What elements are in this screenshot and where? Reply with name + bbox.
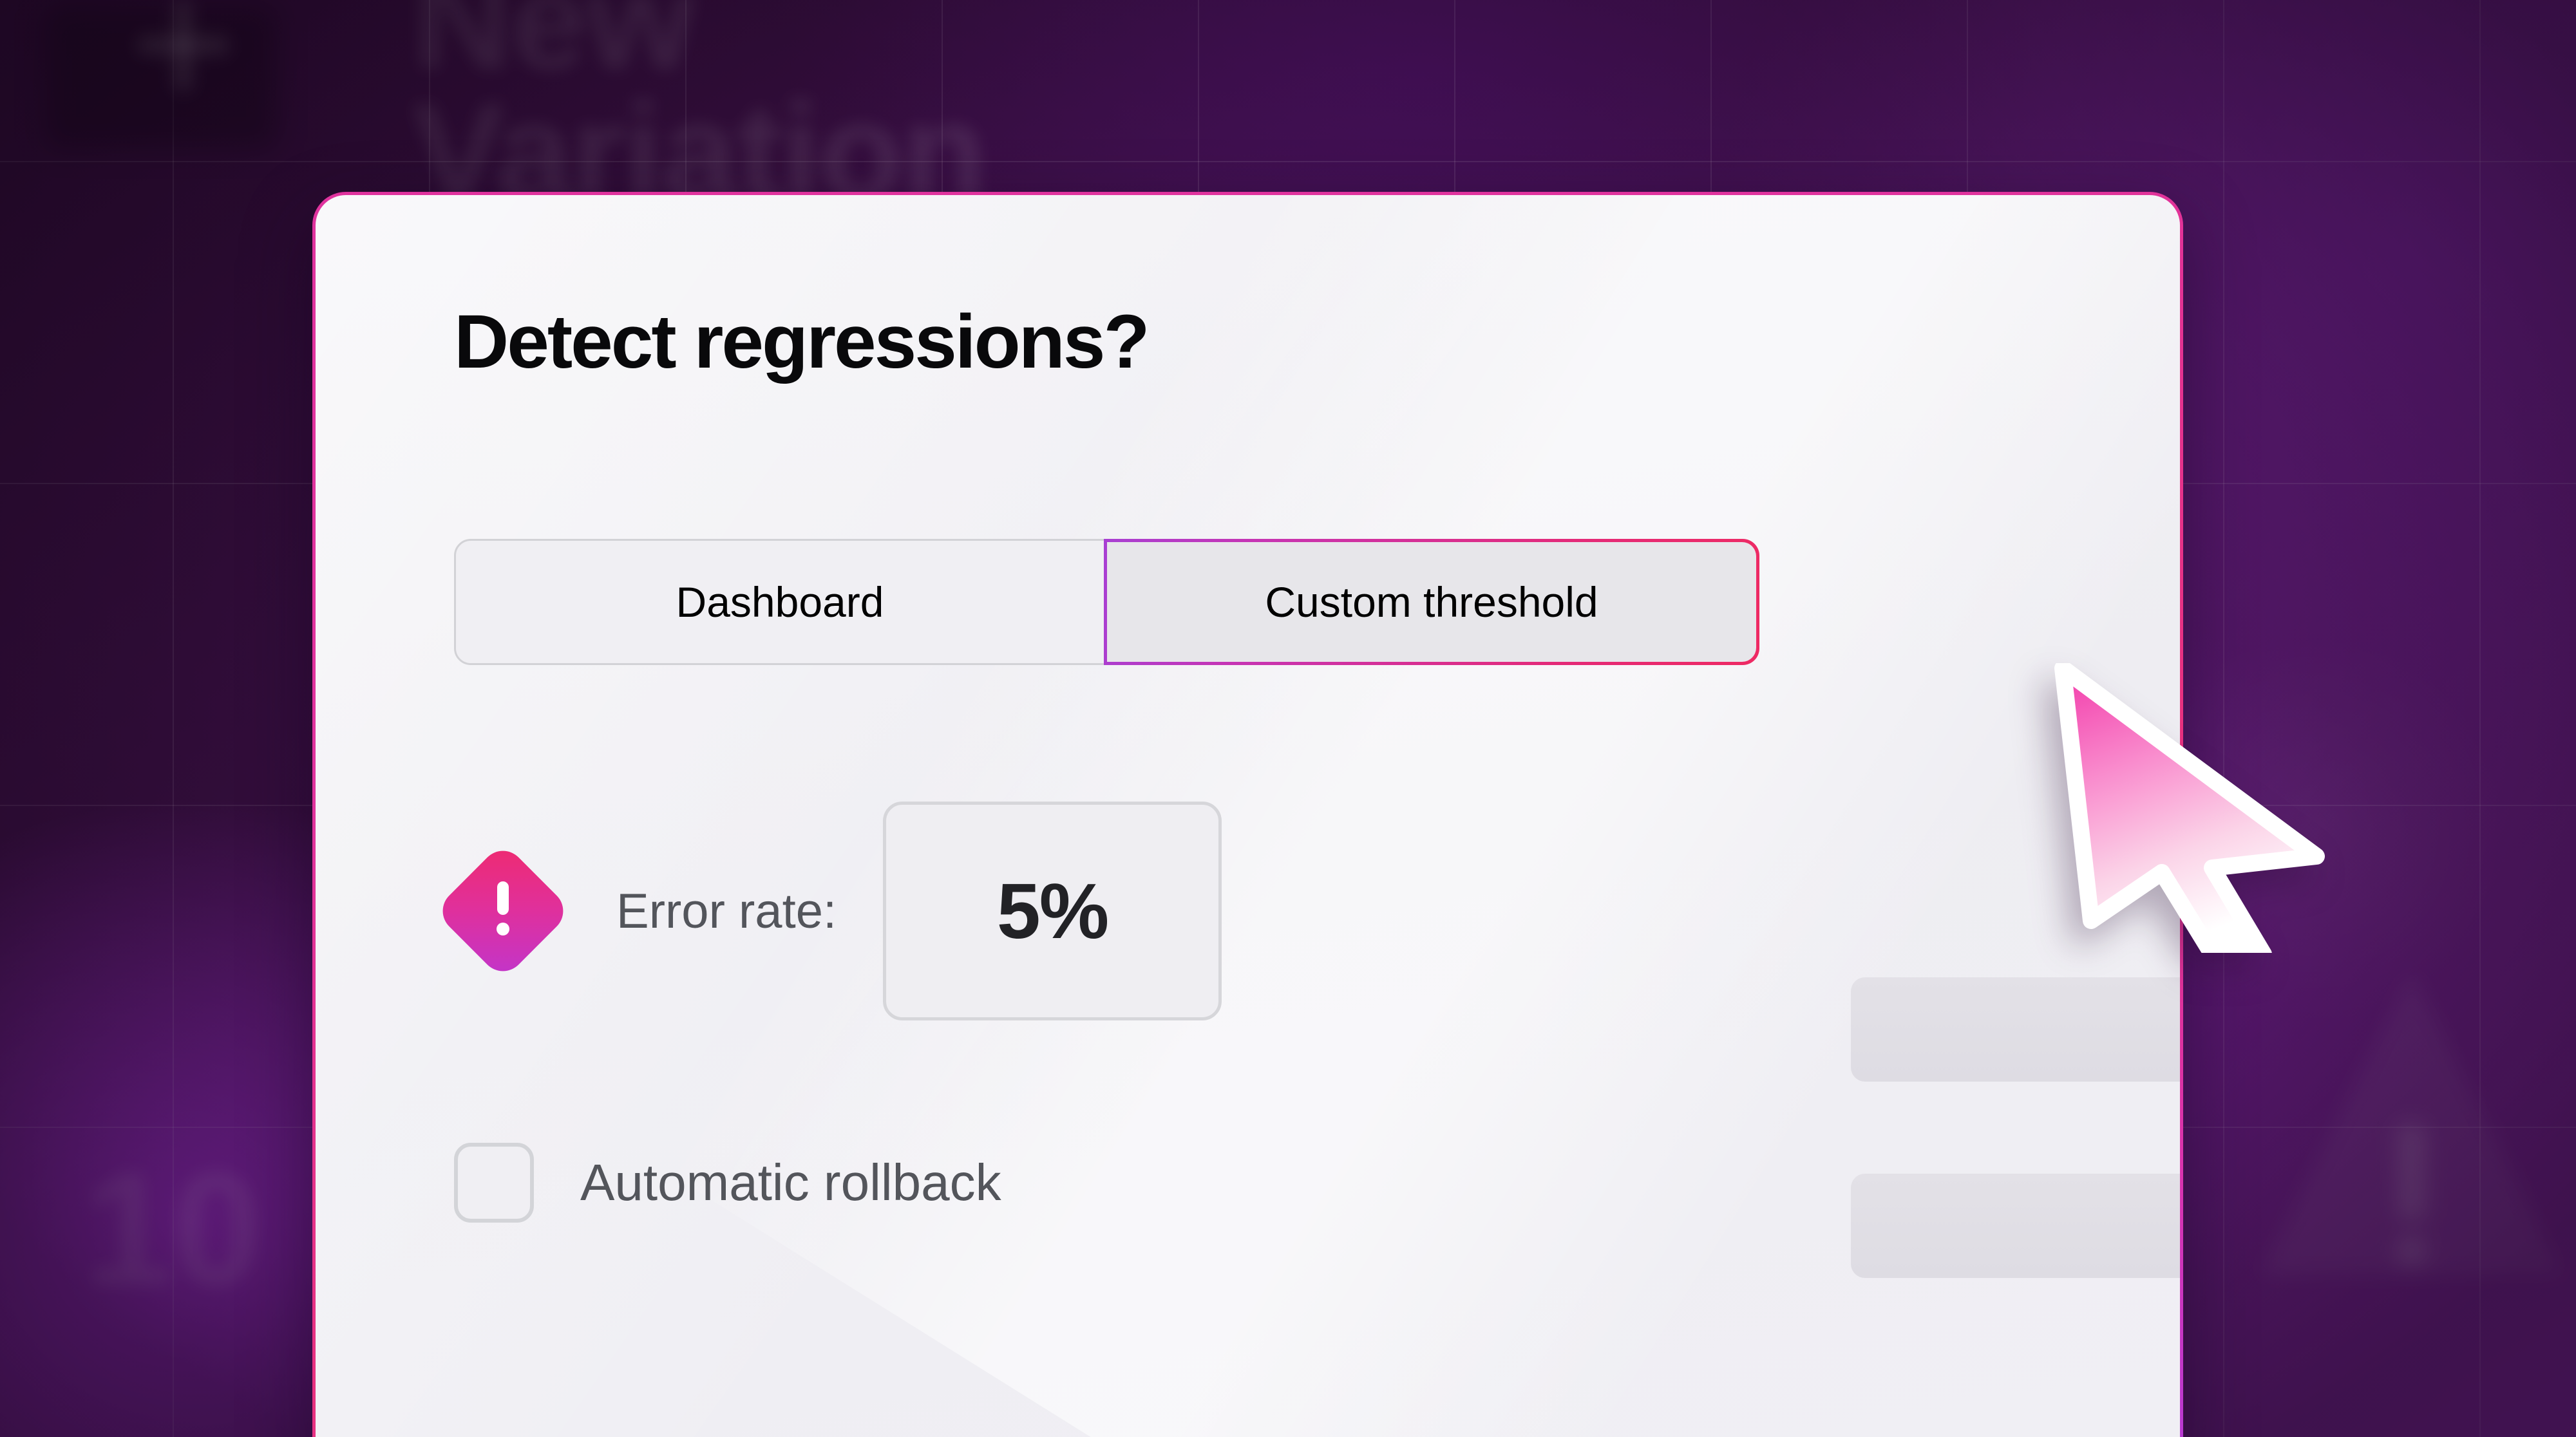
automatic-rollback-label: Automatic rollback xyxy=(580,1153,1001,1212)
error-rate-label: Error rate: xyxy=(616,883,837,939)
automatic-rollback-row: Automatic rollback xyxy=(454,1143,1001,1223)
error-rate-input[interactable]: 5% xyxy=(883,802,1222,1020)
tab-group: Dashboard Custom threshold xyxy=(454,539,1759,665)
tab-custom-threshold[interactable]: Custom threshold xyxy=(1104,539,1759,665)
page-title: Detect regressions? xyxy=(454,298,1148,386)
tab-custom-threshold-label: Custom threshold xyxy=(1107,542,1756,662)
alert-diamond-icon xyxy=(434,842,573,981)
placeholder-bar xyxy=(1851,1174,2180,1278)
error-rate-row: Error rate: 5% xyxy=(454,853,1222,969)
tab-dashboard[interactable]: Dashboard xyxy=(454,539,1106,665)
settings-card-surface: Detect regressions? Dashboard Custom thr… xyxy=(316,195,2180,1437)
screenshot-stage: New Variation 10 Detect regressions? Das… xyxy=(0,0,2576,1437)
settings-card: Detect regressions? Dashboard Custom thr… xyxy=(312,192,2183,1437)
placeholder-bar xyxy=(1851,977,2180,1082)
automatic-rollback-checkbox[interactable] xyxy=(454,1143,534,1223)
